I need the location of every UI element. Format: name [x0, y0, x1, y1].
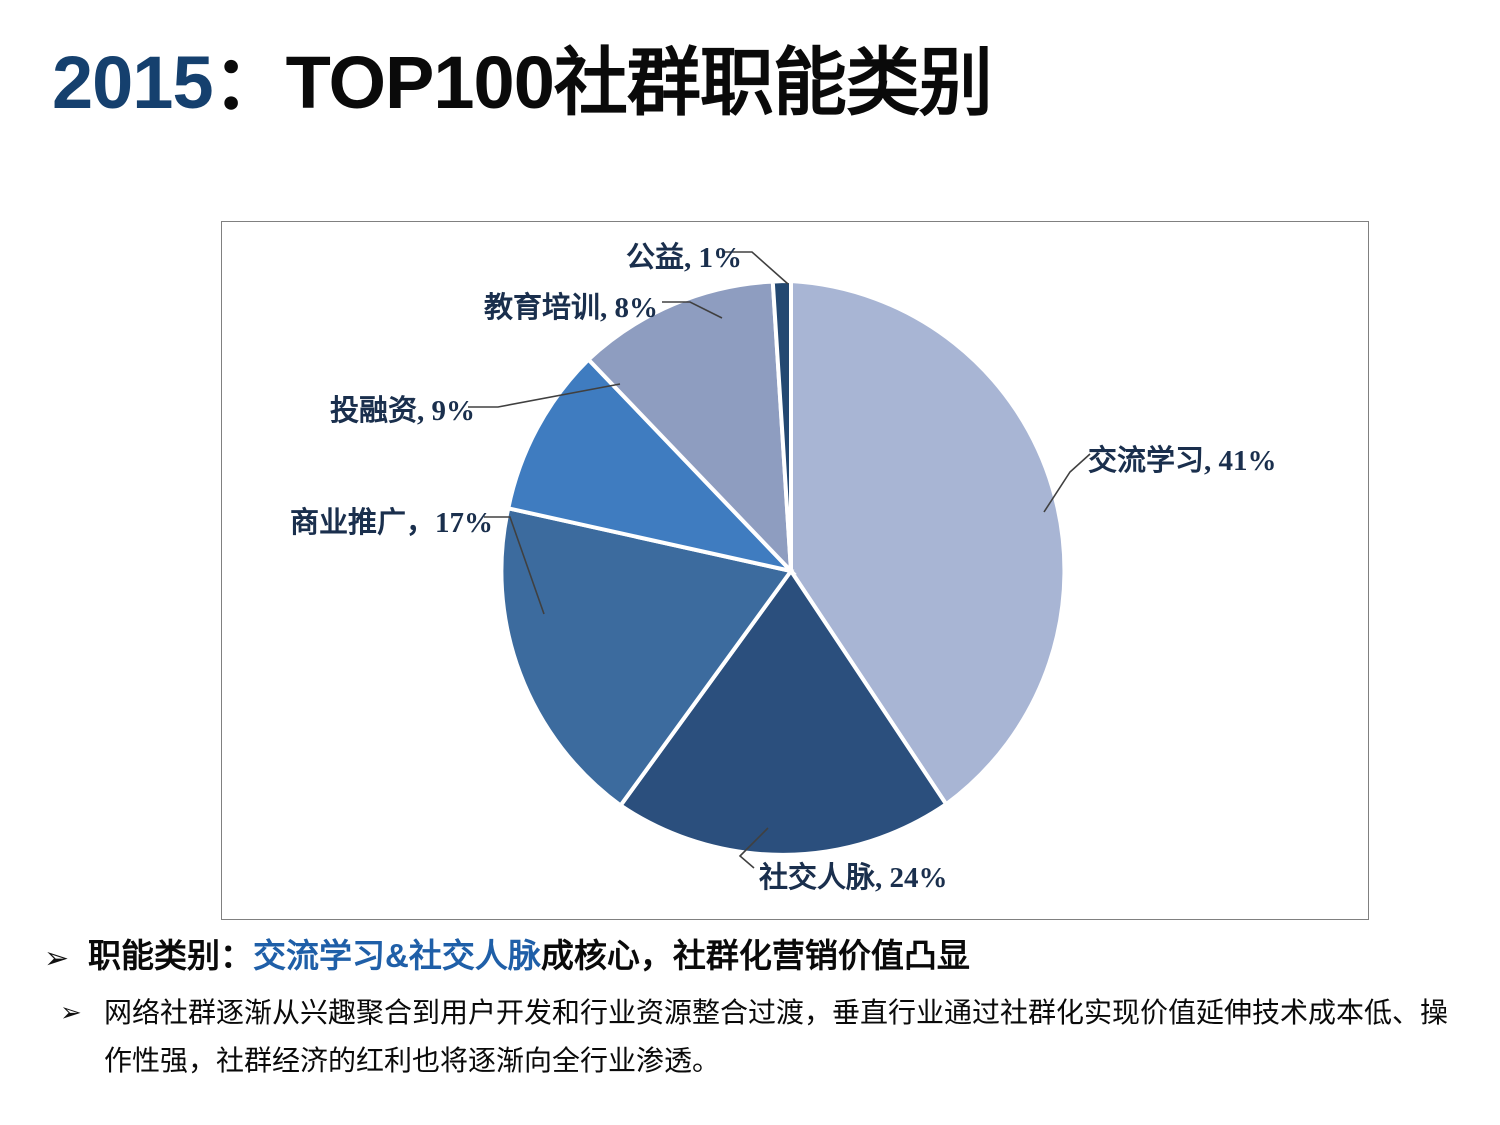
- page-title: 2015：TOP100社群职能类别: [52, 44, 992, 122]
- bullet-1-segment-accent: 交流学习&社交人脉: [253, 937, 541, 974]
- summary-bullets: ➢ 职能类别：交流学习&社交人脉成核心，社群化营销价值凸显 ➢ 网络社群逐渐从兴…: [44, 934, 1474, 1085]
- bullet-item-1-text: 职能类别：交流学习&社交人脉成核心，社群化营销价值凸显: [88, 934, 1474, 979]
- pie-label-shejiaorenmai: 社交人脉, 24%: [759, 854, 948, 896]
- bullet-item-2-text: 网络社群逐渐从兴趣聚合到用户开发和行业资源整合过渡，垂直行业通过社群化实现价值延…: [104, 989, 1474, 1085]
- pie-label-jiaoliuxuexi: 交流学习, 41%: [1088, 437, 1277, 479]
- pie-label-tourongzi: 投融资, 9%: [330, 387, 475, 429]
- bullet-1-segment-lead: 职能类别：: [88, 937, 253, 974]
- pie-label-jiaoyupeixun: 教育培训, 8%: [484, 284, 658, 326]
- pie-chart-svg: [222, 222, 1370, 921]
- bullet-item-1: ➢ 职能类别：交流学习&社交人脉成核心，社群化营销价值凸显: [44, 934, 1474, 979]
- title-year: 2015: [52, 41, 213, 124]
- pie-label-gongyi: 公益, 1%: [626, 234, 742, 276]
- bullet-arrow-icon-2: ➢: [44, 989, 104, 1025]
- pie-slices: [501, 281, 1064, 855]
- bullet-item-2: ➢ 网络社群逐渐从兴趣聚合到用户开发和行业资源整合过渡，垂直行业通过社群化实现价…: [44, 989, 1474, 1085]
- pie-label-shangyetuiguang: 商业推广，17%: [290, 499, 493, 541]
- bullet-arrow-icon: ➢: [44, 934, 88, 974]
- title-rest: ：TOP100社群职能类别: [213, 41, 992, 124]
- bullet-1-segment-tail: 成核心，社群化营销价值凸显: [541, 937, 970, 974]
- pie-chart-frame: 公益, 1% 教育培训, 8% 投融资, 9% 商业推广，17% 交流学习, 4…: [221, 221, 1369, 920]
